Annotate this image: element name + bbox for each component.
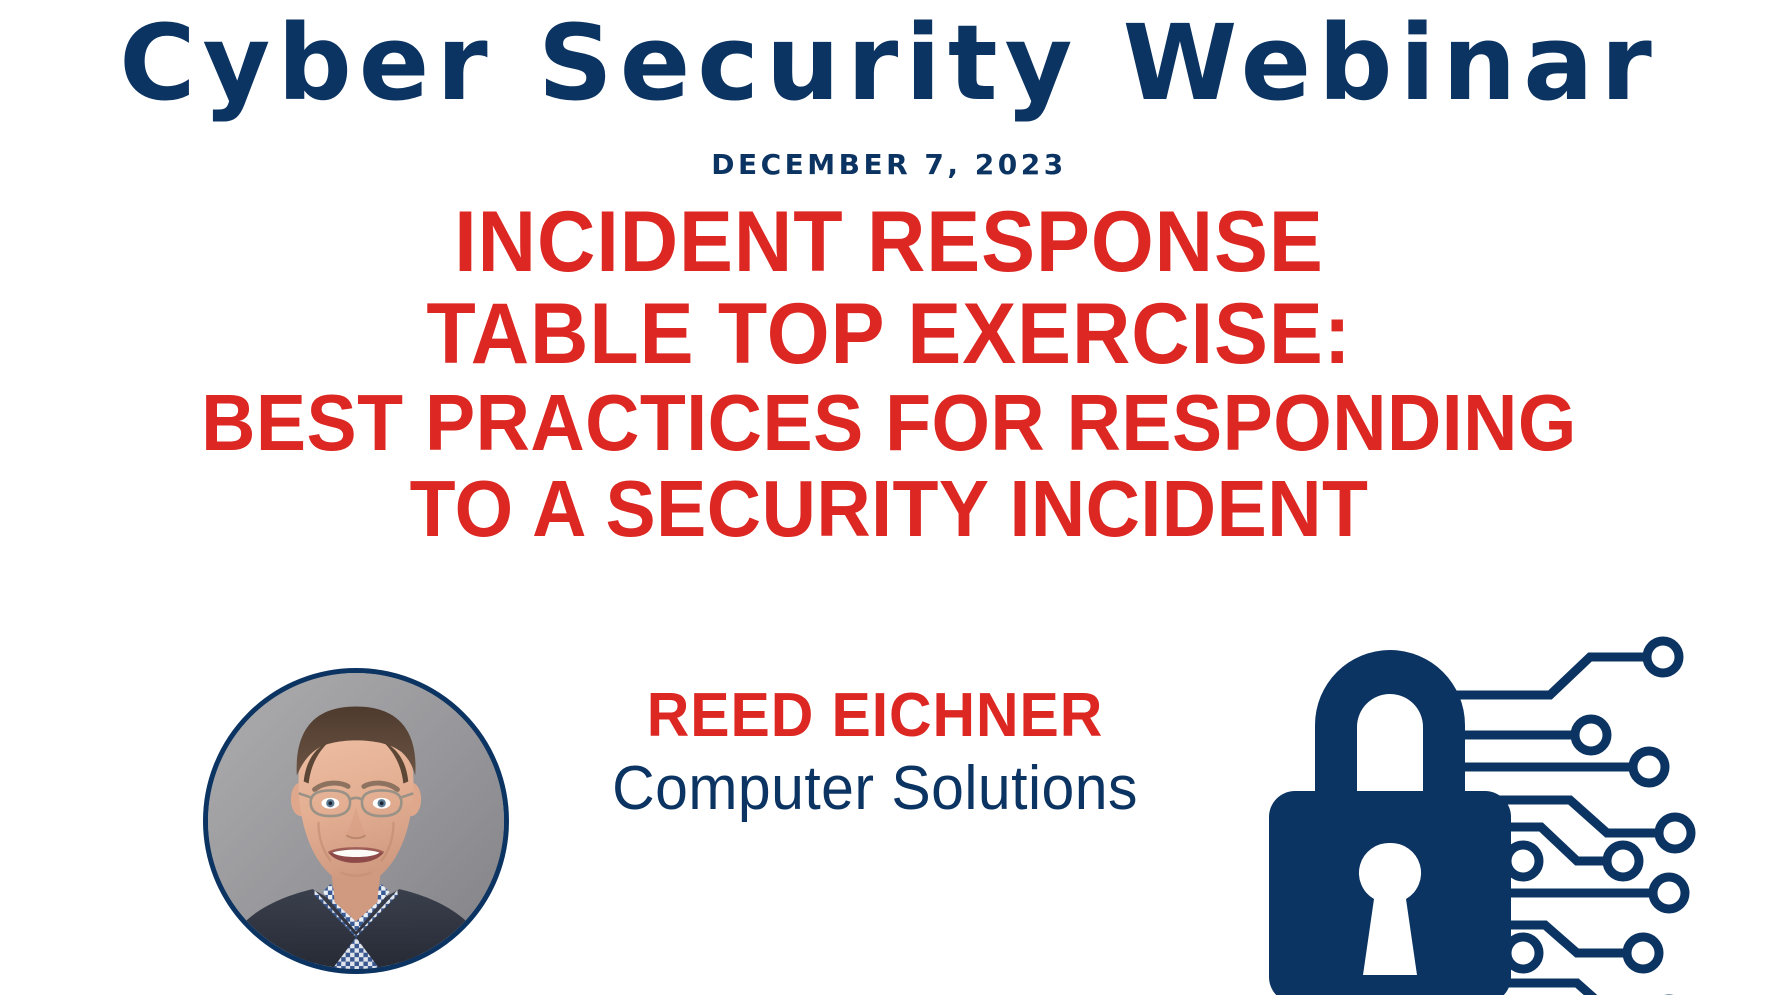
headline-line-3: BEST PRACTICES FOR RESPONDING	[53, 380, 1724, 466]
headshot-illustration	[208, 673, 504, 969]
webinar-date: DECEMBER 7, 2023	[0, 148, 1778, 182]
page-title: Cyber Security Webinar	[0, 4, 1778, 122]
headline: INCIDENT RESPONSE TABLE TOP EXERCISE: BE…	[0, 196, 1778, 552]
speaker-name: REED EICHNER	[547, 680, 1203, 752]
headline-line-2: TABLE TOP EXERCISE:	[53, 288, 1724, 380]
avatar	[203, 668, 509, 974]
webinar-promo-poster: Cyber Security Webinar DECEMBER 7, 2023 …	[0, 0, 1778, 1000]
lock-shackle	[1315, 650, 1465, 805]
headline-line-4: TO A SECURITY INCIDENT	[53, 466, 1724, 552]
padlock-circuit-svg	[1255, 595, 1715, 995]
speaker-row: REED EICHNER Computer Solutions	[0, 640, 1778, 1000]
headline-line-1: INCIDENT RESPONSE	[53, 196, 1724, 288]
speaker-info: REED EICHNER Computer Solutions	[530, 680, 1220, 826]
padlock-circuit-icon	[1255, 595, 1715, 995]
speaker-company: Computer Solutions	[547, 752, 1203, 826]
